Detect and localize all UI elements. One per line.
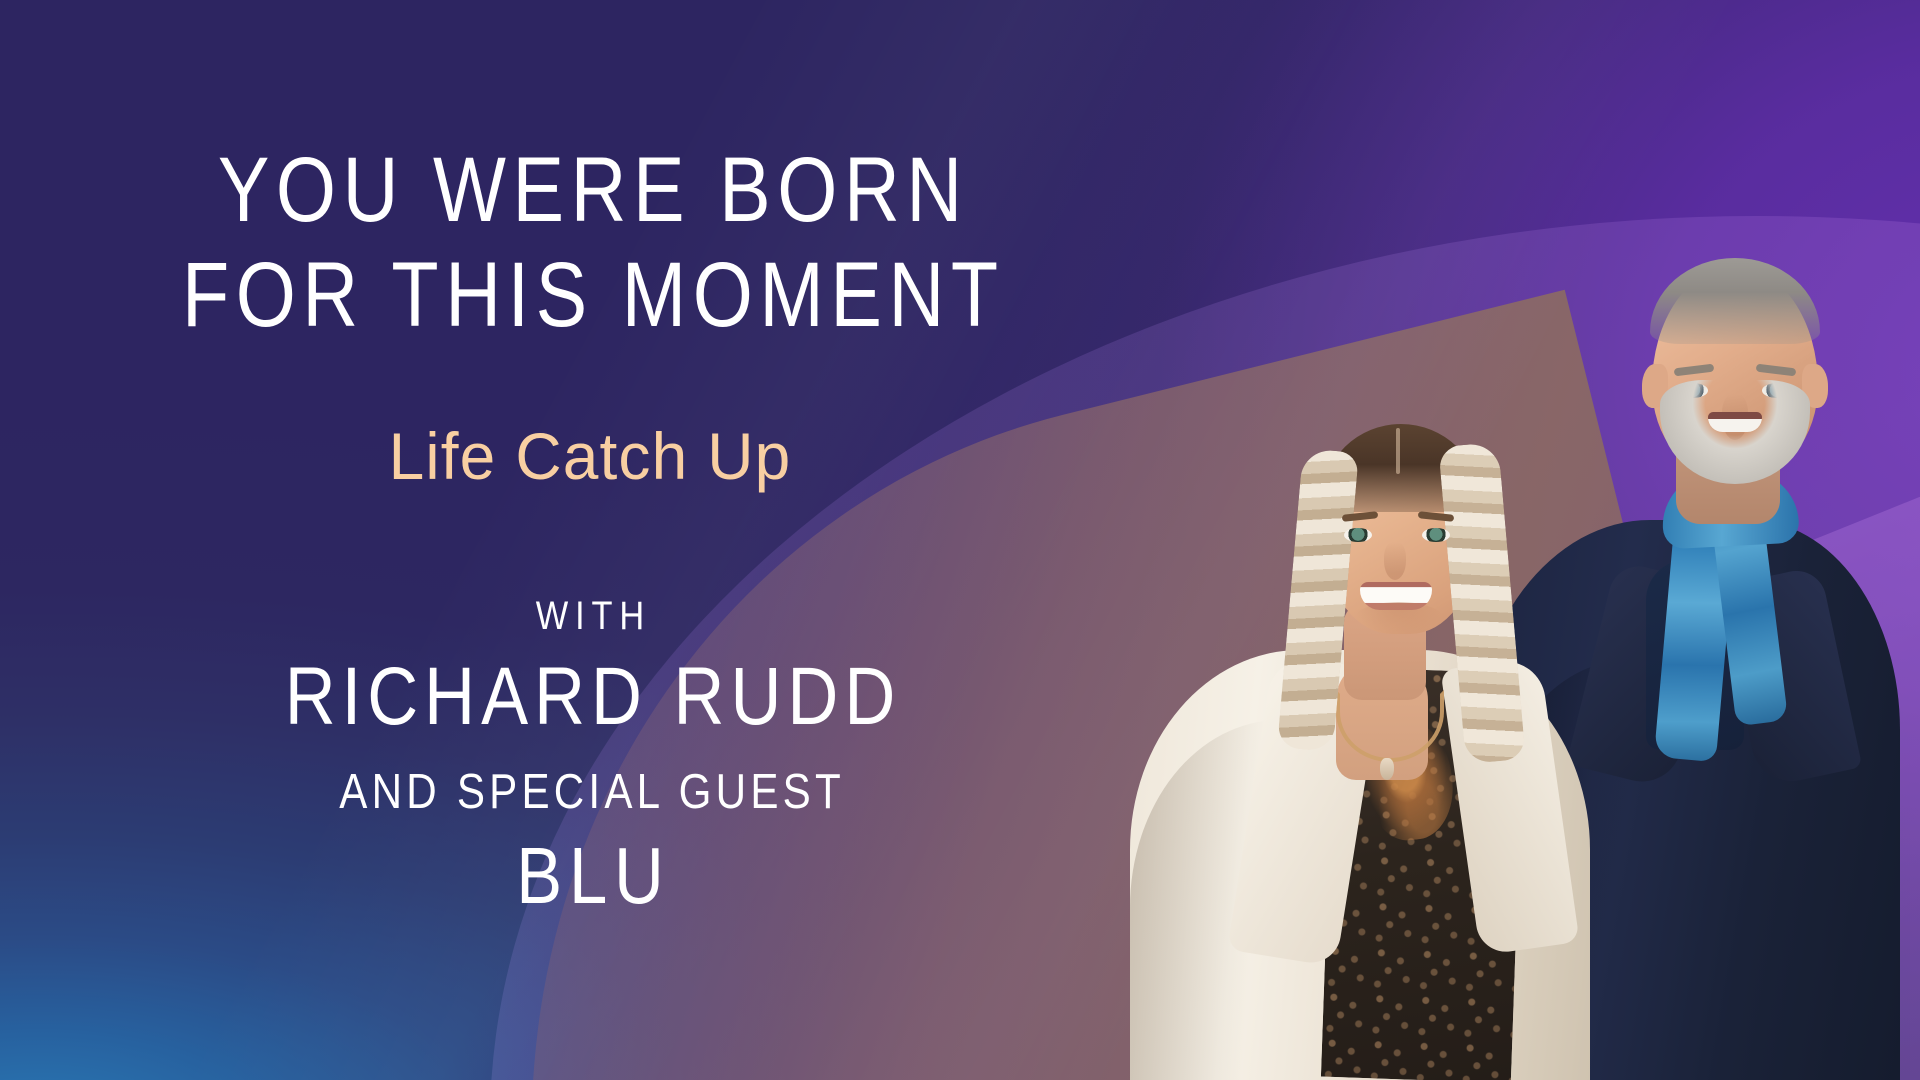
guest-name: BLU bbox=[83, 830, 1098, 922]
guest-nose bbox=[1384, 542, 1406, 580]
guest-eye-left bbox=[1344, 528, 1372, 542]
headline: YOU WERE BORN FOR THIS MOMENT bbox=[94, 138, 1085, 348]
guest-chin-shadow bbox=[1354, 602, 1444, 636]
copy-block: YOU WERE BORN FOR THIS MOMENT Life Catch… bbox=[0, 0, 1180, 1080]
host-name: RICHARD RUDD bbox=[83, 650, 1098, 744]
headline-line-2: FOR THIS MOMENT bbox=[94, 243, 1085, 348]
headline-line-1: YOU WERE BORN bbox=[94, 138, 1085, 243]
with-label: WITH bbox=[83, 594, 1098, 639]
guest-pendant bbox=[1380, 758, 1394, 780]
host-smile bbox=[1708, 412, 1762, 432]
promo-banner: YOU WERE BORN FOR THIS MOMENT Life Catch… bbox=[0, 0, 1920, 1080]
portrait-blu bbox=[1130, 320, 1590, 1080]
portrait-group bbox=[1020, 180, 1920, 1080]
show-title: Life Catch Up bbox=[18, 418, 1163, 494]
guest-hair-part bbox=[1396, 428, 1400, 474]
guest-eye-right bbox=[1422, 528, 1450, 542]
special-guest-label: AND SPECIAL GUEST bbox=[83, 764, 1098, 820]
host-hair bbox=[1650, 258, 1820, 344]
